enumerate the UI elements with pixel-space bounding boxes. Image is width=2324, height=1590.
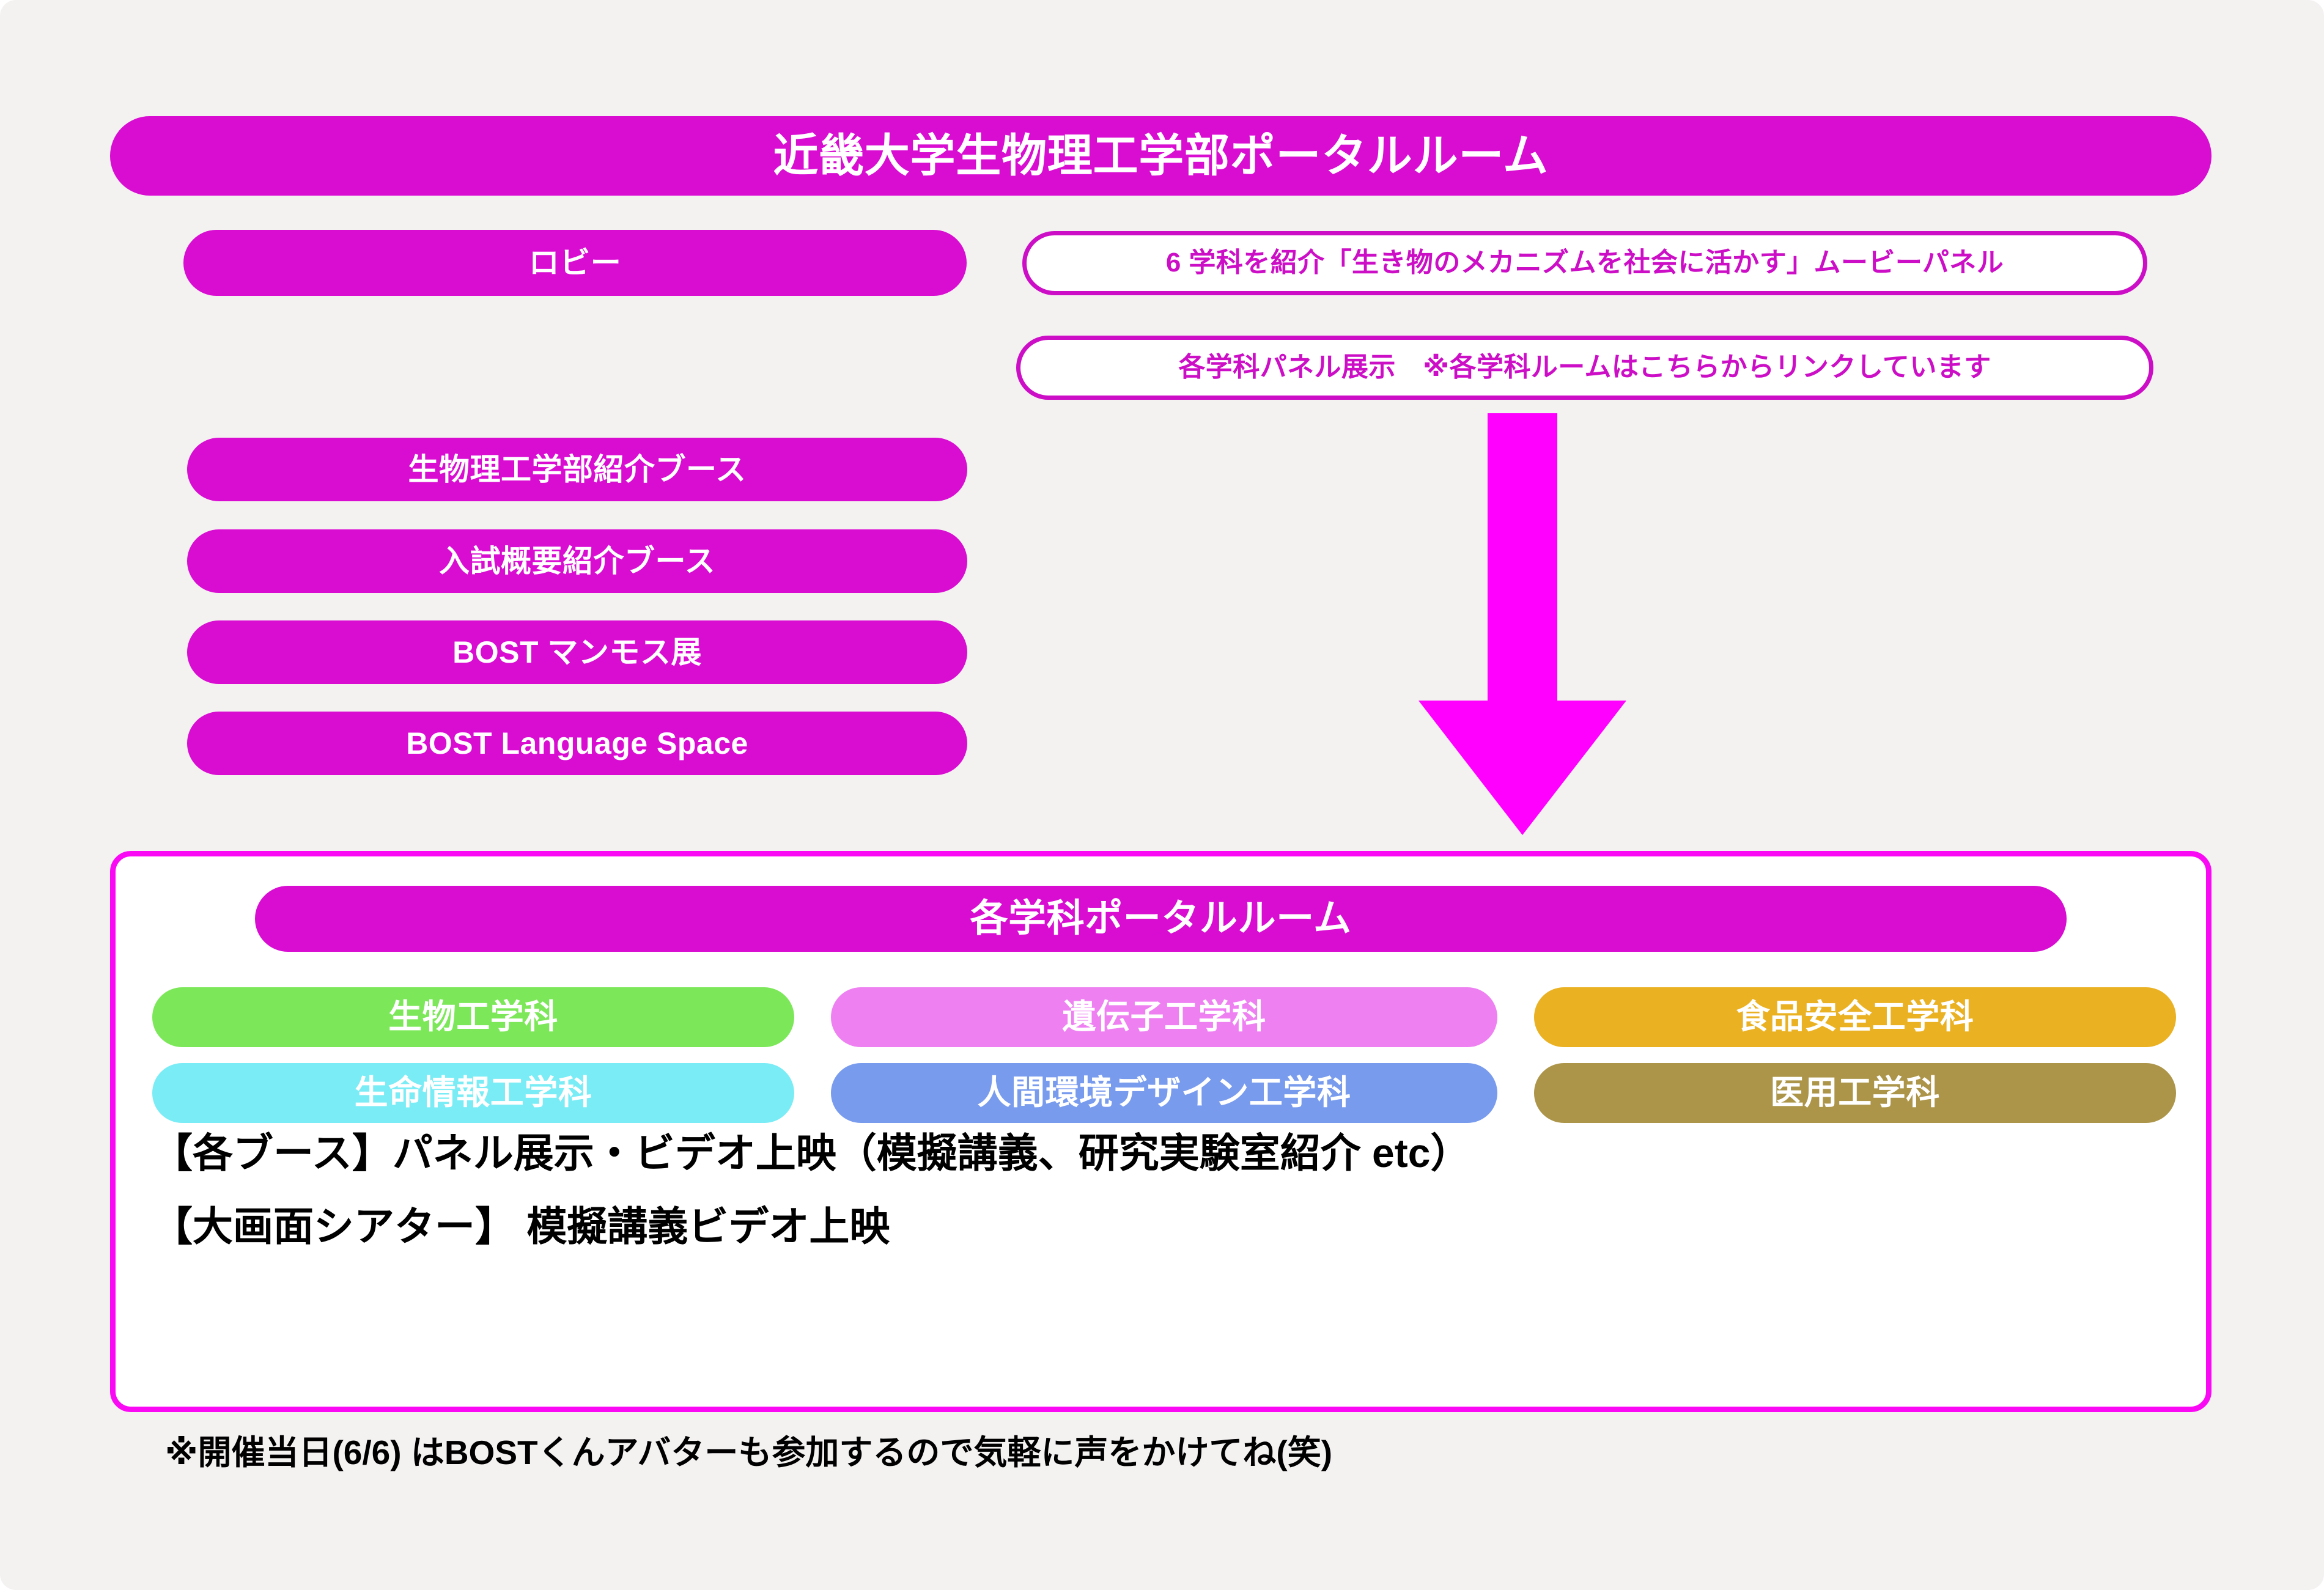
department-panel-exhibit-box[interactable]: 各学科パネル展示 ※各学科ルームはこちらからリンクしています: [1016, 336, 2153, 400]
page-title: 近畿大学生物理工学部ポータルルーム: [110, 116, 2211, 196]
booth-item-language-space[interactable]: BOST Language Space: [187, 712, 967, 775]
down-arrow-icon: [1418, 413, 1626, 835]
department-pill-genetic-engineering[interactable]: 遺伝子工学科: [831, 987, 1497, 1047]
department-pill-medical-engineering[interactable]: 医用工学科: [1534, 1063, 2176, 1123]
booth-item-faculty-intro[interactable]: 生物理工学部紹介ブース: [187, 438, 967, 501]
department-row: 生物工学科 遺伝子工学科 食品安全工学科: [152, 987, 2176, 1047]
booth-item-mammoth-exhibit[interactable]: BOST マンモス展: [187, 620, 967, 684]
poster-canvas: 近畿大学生物理工学部ポータルルーム ロビー 6 学科を紹介「生き物のメカニズムを…: [0, 0, 2324, 1590]
movie-panel-box[interactable]: 6 学科を紹介「生き物のメカニズムを社会に活かす」ムービーパネル: [1022, 231, 2147, 295]
down-arrow-shape: [1418, 413, 1626, 835]
description-theater: 【大画面シアター】 模擬講義ビデオ上映: [152, 1194, 890, 1253]
department-pill-bioinformatics[interactable]: 生命情報工学科: [152, 1063, 794, 1123]
department-portal-heading: 各学科ポータルルーム: [255, 886, 2067, 952]
footnote-text: ※開催当日(6/6) はBOSTくんアバターも参加するので気軽に声をかけてね(笑…: [165, 1425, 1332, 1474]
department-pill-biotechnology[interactable]: 生物工学科: [152, 987, 794, 1047]
booth-item-admissions[interactable]: 入試概要紹介ブース: [187, 529, 967, 593]
lobby-button[interactable]: ロビー: [183, 230, 967, 296]
department-row: 生命情報工学科 人間環境デザイン工学科 医用工学科: [152, 1063, 2176, 1123]
department-pill-food-safety[interactable]: 食品安全工学科: [1534, 987, 2176, 1047]
department-grid: 生物工学科 遺伝子工学科 食品安全工学科 生命情報工学科 人間環境デザイン工学科…: [152, 987, 2176, 1139]
department-portal-container: 各学科ポータルルーム 生物工学科 遺伝子工学科 食品安全工学科 生命情報工学科 …: [110, 851, 2211, 1412]
description-booths: 【各ブース】パネル展示・ビデオ上映（模擬講義、研究実験室紹介 etc）: [152, 1121, 1470, 1179]
department-pill-human-environment-design[interactable]: 人間環境デザイン工学科: [831, 1063, 1497, 1123]
